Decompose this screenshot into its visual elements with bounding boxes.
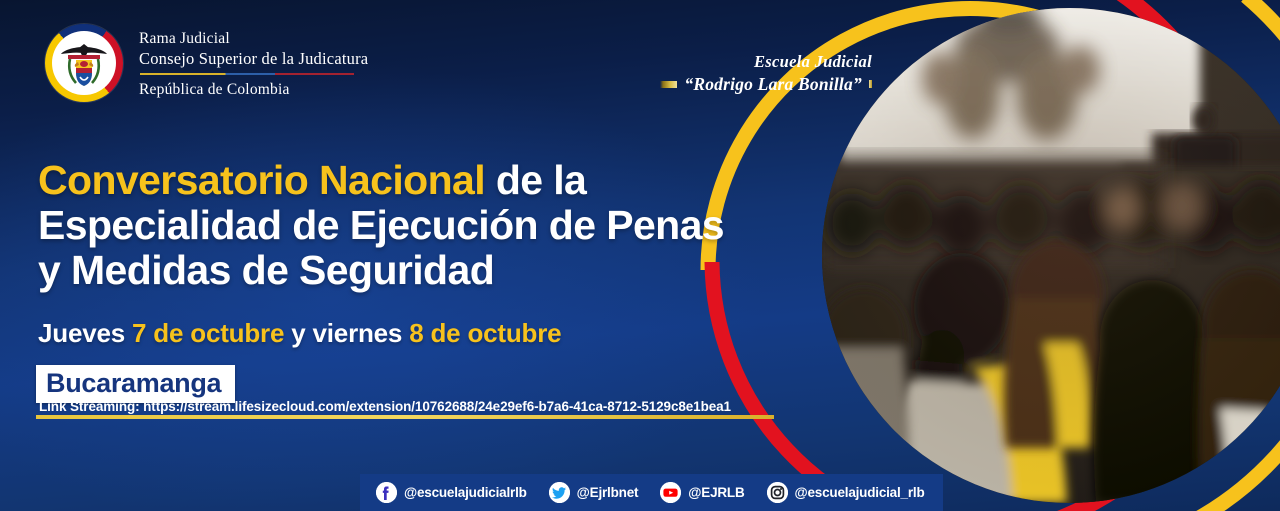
escuela-judicial-lockup: Escuela Judicial “Rodrigo Lara Bonilla” bbox=[660, 52, 872, 95]
headline-accent: Conversatorio Nacional bbox=[38, 157, 485, 203]
social-youtube[interactable]: @EJRLB bbox=[660, 482, 744, 503]
streaming-link[interactable]: Link Streaming: https://stream.lifesizec… bbox=[39, 398, 731, 415]
social-instagram[interactable]: @escuelajudicial_rlb bbox=[767, 482, 925, 503]
streaming-underline bbox=[36, 415, 774, 419]
social-bar: @escuelajudicialrlb @Ejrlbnet @EJRLB bbox=[360, 474, 943, 511]
youtube-icon[interactable] bbox=[660, 482, 681, 503]
conference-photo bbox=[822, 8, 1280, 503]
date-first: 7 de octubre bbox=[132, 318, 284, 348]
page-title: Conversatorio Nacional de la Especialida… bbox=[38, 158, 738, 293]
escuela-line-1: Escuela Judicial bbox=[660, 52, 872, 72]
gold-dash-right-icon bbox=[869, 80, 872, 88]
gold-dash-left-icon bbox=[660, 81, 677, 88]
brand-line-3: República de Colombia bbox=[139, 80, 368, 99]
facebook-icon[interactable] bbox=[376, 482, 397, 503]
social-facebook[interactable]: @escuelajudicialrlb bbox=[376, 482, 527, 503]
colombia-coat-of-arms-icon bbox=[45, 24, 123, 102]
twitter-icon[interactable] bbox=[549, 482, 570, 503]
brand-line-1: Rama Judicial bbox=[139, 29, 368, 48]
social-twitter[interactable]: @Ejrlbnet bbox=[549, 482, 639, 503]
twitter-handle: @Ejrlbnet bbox=[577, 485, 639, 500]
brand-text: Rama Judicial Consejo Superior de la Jud… bbox=[139, 27, 368, 100]
instagram-icon[interactable] bbox=[767, 482, 788, 503]
brand-lockup: Rama Judicial Consejo Superior de la Jud… bbox=[45, 24, 368, 102]
brand-line-2: Consejo Superior de la Judicatura bbox=[139, 48, 368, 69]
escuela-line-2: “Rodrigo Lara Bonilla” bbox=[684, 73, 862, 95]
event-banner: Rama Judicial Consejo Superior de la Jud… bbox=[0, 0, 1280, 511]
date-prefix: Jueves bbox=[38, 318, 132, 348]
tricolor-divider bbox=[140, 73, 354, 76]
date-middle: y viernes bbox=[284, 318, 409, 348]
instagram-handle: @escuelajudicial_rlb bbox=[795, 485, 925, 500]
event-dates: Jueves 7 de octubre y viernes 8 de octub… bbox=[38, 317, 561, 349]
facebook-handle: @escuelajudicialrlb bbox=[404, 485, 527, 500]
youtube-handle: @EJRLB bbox=[688, 485, 744, 500]
date-second: 8 de octubre bbox=[409, 318, 561, 348]
